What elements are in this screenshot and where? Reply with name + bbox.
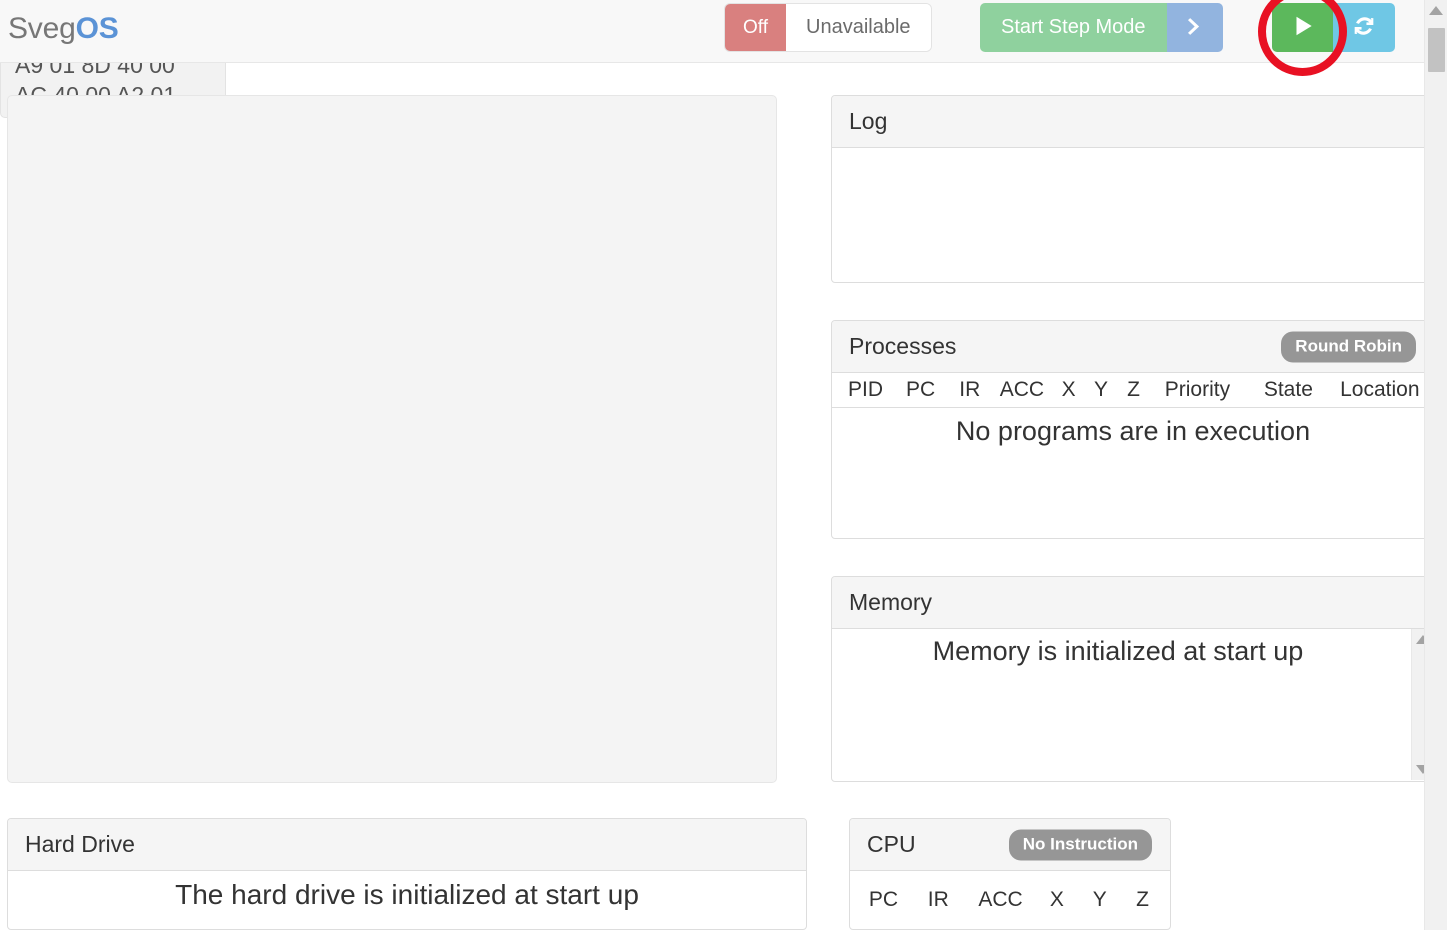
memory-panel-title: Memory bbox=[849, 589, 932, 616]
cpu-column-y: Y bbox=[1078, 888, 1121, 912]
brand-prefix: Sveg bbox=[8, 12, 76, 45]
processes-column-priority: Priority bbox=[1150, 378, 1245, 402]
cpu-column-z: Z bbox=[1121, 888, 1164, 912]
log-panel-header: Log bbox=[832, 96, 1434, 148]
cpu-column-ir: IR bbox=[911, 888, 966, 912]
processes-column-pid: PID bbox=[838, 378, 893, 402]
step-next-button[interactable] bbox=[1167, 3, 1223, 52]
run-button-group bbox=[1272, 3, 1395, 52]
step-mode-button-group: Start Step Mode bbox=[980, 3, 1223, 52]
system-status-group: Off Unavailable bbox=[725, 4, 931, 51]
cpu-panel-header: CPU No Instruction bbox=[850, 819, 1170, 871]
program-editor-panel[interactable] bbox=[7, 95, 777, 783]
scheduler-badge[interactable]: Round Robin bbox=[1281, 331, 1416, 362]
hard-drive-panel-header: Hard Drive bbox=[8, 819, 806, 871]
processes-column-ir: IR bbox=[948, 378, 991, 402]
processes-column-acc: ACC bbox=[991, 378, 1052, 402]
log-panel-body[interactable] bbox=[832, 148, 1434, 282]
processes-panel-title: Processes bbox=[849, 333, 956, 360]
memory-panel: Memory Memory is initialized at start up bbox=[831, 576, 1435, 782]
cpu-column-acc: ACC bbox=[966, 888, 1036, 912]
cpu-column-pc: PC bbox=[856, 888, 911, 912]
hard-drive-panel: Hard Drive The hard drive is initialized… bbox=[7, 818, 807, 930]
processes-table-header: PID PC IR ACC X Y Z Priority State Locat… bbox=[832, 373, 1434, 408]
processes-column-z: Z bbox=[1117, 378, 1149, 402]
chevron-right-icon bbox=[1183, 15, 1206, 41]
memory-panel-header: Memory bbox=[832, 577, 1434, 629]
hard-drive-panel-title: Hard Drive bbox=[25, 831, 135, 858]
app-brand[interactable]: SvegOS bbox=[8, 9, 119, 49]
memory-message: Memory is initialized at start up bbox=[832, 629, 1434, 667]
hard-drive-panel-body: The hard drive is initialized at start u… bbox=[8, 871, 806, 929]
cpu-status-badge[interactable]: No Instruction bbox=[1009, 829, 1152, 860]
processes-column-state: State bbox=[1245, 378, 1332, 402]
start-step-mode-button[interactable]: Start Step Mode bbox=[980, 3, 1167, 52]
run-program-button[interactable] bbox=[1272, 3, 1333, 52]
power-status-badge[interactable]: Off bbox=[725, 4, 786, 51]
processes-column-x: X bbox=[1052, 378, 1084, 402]
availability-status[interactable]: Unavailable bbox=[786, 4, 931, 51]
cpu-table-header: PC IR ACC X Y Z bbox=[850, 871, 1170, 928]
processes-column-y: Y bbox=[1085, 378, 1117, 402]
hard-drive-message: The hard drive is initialized at start u… bbox=[8, 871, 806, 911]
processes-panel-header: Processes Round Robin bbox=[832, 321, 1434, 373]
cpu-panel: CPU No Instruction PC IR ACC X Y Z bbox=[849, 818, 1171, 930]
brand-suffix: OS bbox=[76, 12, 119, 45]
reset-button[interactable] bbox=[1333, 3, 1395, 52]
memory-panel-body: Memory is initialized at start up bbox=[832, 629, 1434, 780]
cpu-panel-title: CPU bbox=[867, 831, 916, 858]
play-icon bbox=[1290, 13, 1316, 42]
processes-panel: Processes Round Robin PID PC IR ACC X Y … bbox=[831, 320, 1435, 539]
refresh-icon bbox=[1350, 12, 1378, 43]
log-panel: Log bbox=[831, 95, 1435, 283]
processes-table-body: No programs are in execution bbox=[832, 408, 1434, 537]
processes-empty-message: No programs are in execution bbox=[832, 408, 1434, 447]
log-panel-title: Log bbox=[849, 108, 887, 135]
top-navbar: SvegOS Off Unavailable Start Step Mode bbox=[0, 0, 1447, 63]
cpu-column-x: X bbox=[1035, 888, 1078, 912]
processes-column-pc: PC bbox=[893, 378, 948, 402]
processes-column-location: Location bbox=[1332, 378, 1428, 402]
